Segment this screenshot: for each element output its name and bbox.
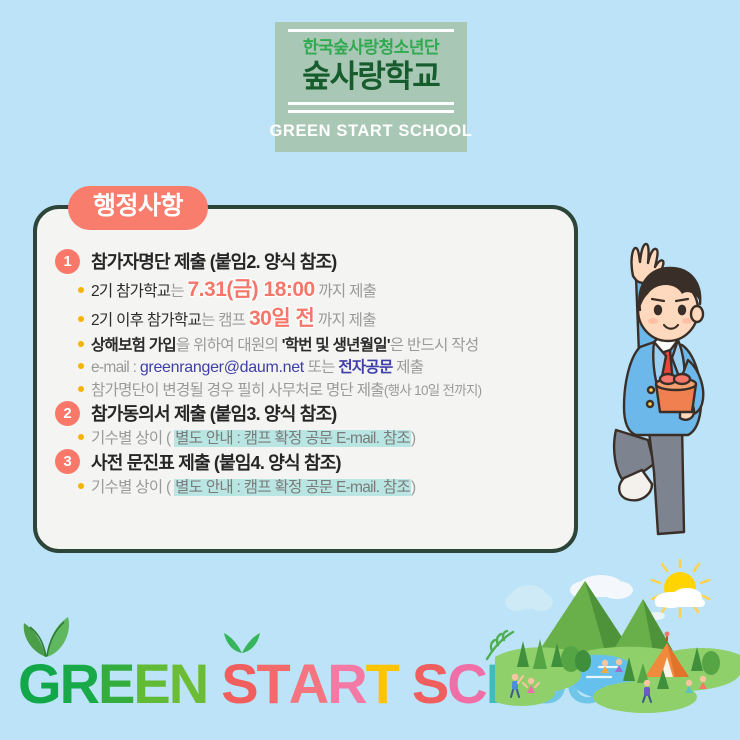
- notice-bullet-row: e-mail : greenranger@daum.net 또는 전자공문 제출: [78, 358, 575, 378]
- text-fragment: 은 반드시 작성: [390, 337, 479, 354]
- bullet-dot-icon: [78, 316, 84, 322]
- text-fragment: 까지 제출: [315, 283, 376, 300]
- notice-number-badge: 1: [55, 249, 80, 274]
- notice-bullet-text: 2기 이후 참가학교는 캠프 30일 전 까지 제출: [91, 306, 376, 332]
- logo-rule-middle: [288, 102, 454, 105]
- notice-item-header: 1참가자명단 제출 (붙임2. 양식 참조): [55, 248, 575, 274]
- banner-letter: E: [98, 656, 133, 712]
- text-fragment: 기수별 상이 (: [91, 479, 174, 496]
- text-fragment: ): [411, 430, 415, 447]
- text-fragment: 전자공문: [338, 359, 392, 376]
- banner-letter: T: [257, 656, 289, 712]
- bullet-dot-icon: [78, 287, 84, 293]
- section-tag-admin: 행정사항: [68, 186, 208, 230]
- notice-bullet-row: 기수별 상이 ( 별도 안내 : 캠프 확정 공문 E-mail. 참조): [78, 429, 575, 448]
- notice-bullet-row: 2기 이후 참가학교는 캠프 30일 전 까지 제출: [78, 306, 575, 332]
- bullet-dot-icon: [78, 434, 84, 440]
- banner-letter: E: [133, 656, 168, 712]
- text-fragment: 참가명단이 변경될 경우 필히 사무처로 명단 제출: [91, 382, 384, 399]
- text-fragment: 제출: [393, 359, 424, 376]
- banner-letter: R: [60, 656, 98, 712]
- notice-item-title: 참가동의서 제출 (붙임3. 양식 참조): [91, 400, 336, 426]
- notice-bullet-row: 상해보험 가입을 위하여 대원의 '학번 및 생년월일'은 반드시 작성: [78, 336, 575, 355]
- notice-list: 1참가자명단 제출 (붙임2. 양식 참조)2기 참가학교는 7.31(금) 1…: [55, 248, 575, 497]
- text-fragment: 별도 안내 : 캠프 확정 공문 E-mail. 참조: [174, 479, 411, 496]
- notice-bullet-text: 기수별 상이 ( 별도 안내 : 캠프 확정 공문 E-mail. 참조): [91, 429, 415, 448]
- notice-bullet-text: 참가명단이 변경될 경우 필히 사무처로 명단 제출(행사 10일 전까지): [91, 381, 481, 400]
- text-fragment: 까지 제출: [314, 312, 375, 329]
- poster-root: 한국숲사랑청소년단 숲사랑학교 GREEN START SCHOOL 행정사항 …: [0, 0, 740, 740]
- logo-rule-top: [288, 29, 454, 32]
- bullet-dot-icon: [78, 386, 84, 392]
- logo-korean-small: 한국숲사랑청소년단: [303, 39, 439, 58]
- notice-item: 2참가동의서 제출 (붙임3. 양식 참조)기수별 상이 ( 별도 안내 : 캠…: [55, 400, 575, 448]
- notice-bullet-row: 참가명단이 변경될 경우 필히 사무처로 명단 제출(행사 10일 전까지): [78, 381, 575, 400]
- bullet-dot-icon: [78, 483, 84, 489]
- banner-letter: N: [169, 656, 207, 712]
- notice-bullet-text: 상해보험 가입을 위하여 대원의 '학번 및 생년월일'은 반드시 작성: [91, 336, 478, 355]
- text-fragment: 기수별 상이 (: [91, 430, 174, 447]
- notice-bullet-text: 기수별 상이 ( 별도 안내 : 캠프 확정 공문 E-mail. 참조): [91, 478, 415, 497]
- notice-bullet-text: 2기 참가학교는 7.31(금) 18:00 까지 제출: [91, 277, 376, 303]
- text-fragment: e-mail :: [91, 359, 140, 376]
- text-fragment: (행사 10일 전까지): [384, 383, 482, 398]
- notice-item: 1참가자명단 제출 (붙임2. 양식 참조)2기 참가학교는 7.31(금) 1…: [55, 248, 575, 400]
- notice-number-badge: 3: [55, 449, 80, 474]
- logo-korean-title: 숲사랑학교: [302, 59, 440, 95]
- banner-letter: S: [412, 656, 447, 712]
- text-fragment: 는: [170, 283, 187, 300]
- notice-item-header: 3사전 문진표 제출 (붙임4. 양식 참조): [55, 449, 575, 475]
- banner-letter: [398, 656, 412, 712]
- banner-letter: T: [366, 656, 398, 712]
- notice-bullet-text: e-mail : greenranger@daum.net 또는 전자공문 제출: [91, 358, 423, 378]
- text-fragment: 2기 이후 참가학교: [91, 312, 201, 329]
- text-fragment: 7.31(금) 18:00: [188, 278, 315, 301]
- notice-item-header: 2참가동의서 제출 (붙임3. 양식 참조): [55, 400, 575, 426]
- notice-item-title: 사전 문진표 제출 (붙임4. 양식 참조): [91, 449, 341, 475]
- notice-bullet-row: 2기 참가학교는 7.31(금) 18:00 까지 제출: [78, 277, 575, 303]
- text-fragment: 을 위하여 대원의: [176, 337, 282, 354]
- text-fragment: ): [411, 479, 415, 496]
- notice-number-badge: 2: [55, 401, 80, 426]
- bullet-dot-icon: [78, 341, 84, 347]
- text-fragment: 상해보험 가입: [91, 337, 176, 354]
- banner-letter: G: [18, 656, 60, 712]
- banner-letter: C: [447, 656, 485, 712]
- text-fragment: 또는: [304, 359, 338, 376]
- boy-illustration: [596, 232, 736, 562]
- text-fragment: 30일 전: [249, 307, 314, 330]
- text-fragment: '학번 및 생년월일': [282, 337, 390, 354]
- logo-rule-lower: [288, 110, 454, 113]
- text-fragment: 2기 참가학교: [91, 283, 170, 300]
- banner-letter: A: [289, 656, 327, 712]
- bottom-banner: GREEN START SCHOOL: [0, 638, 740, 718]
- school-logo: 한국숲사랑청소년단 숲사랑학교 GREEN START SCHOOL: [275, 22, 467, 152]
- camping-scene-illustration: [495, 559, 740, 724]
- bullet-dot-icon: [78, 363, 84, 369]
- logo-english-title: GREEN START SCHOOL: [270, 122, 473, 141]
- text-fragment: 는 캠프: [201, 312, 249, 329]
- notice-item-title: 참가자명단 제출 (붙임2. 양식 참조): [91, 248, 336, 274]
- notice-item: 3사전 문진표 제출 (붙임4. 양식 참조)기수별 상이 ( 별도 안내 : …: [55, 449, 575, 497]
- banner-letter: R: [327, 656, 365, 712]
- text-fragment: 별도 안내 : 캠프 확정 공문 E-mail. 참조: [174, 430, 411, 447]
- banner-letter: [207, 656, 221, 712]
- text-fragment[interactable]: greenranger@daum.net: [140, 359, 304, 376]
- notice-bullet-row: 기수별 상이 ( 별도 안내 : 캠프 확정 공문 E-mail. 참조): [78, 478, 575, 497]
- banner-letter: S: [221, 656, 256, 712]
